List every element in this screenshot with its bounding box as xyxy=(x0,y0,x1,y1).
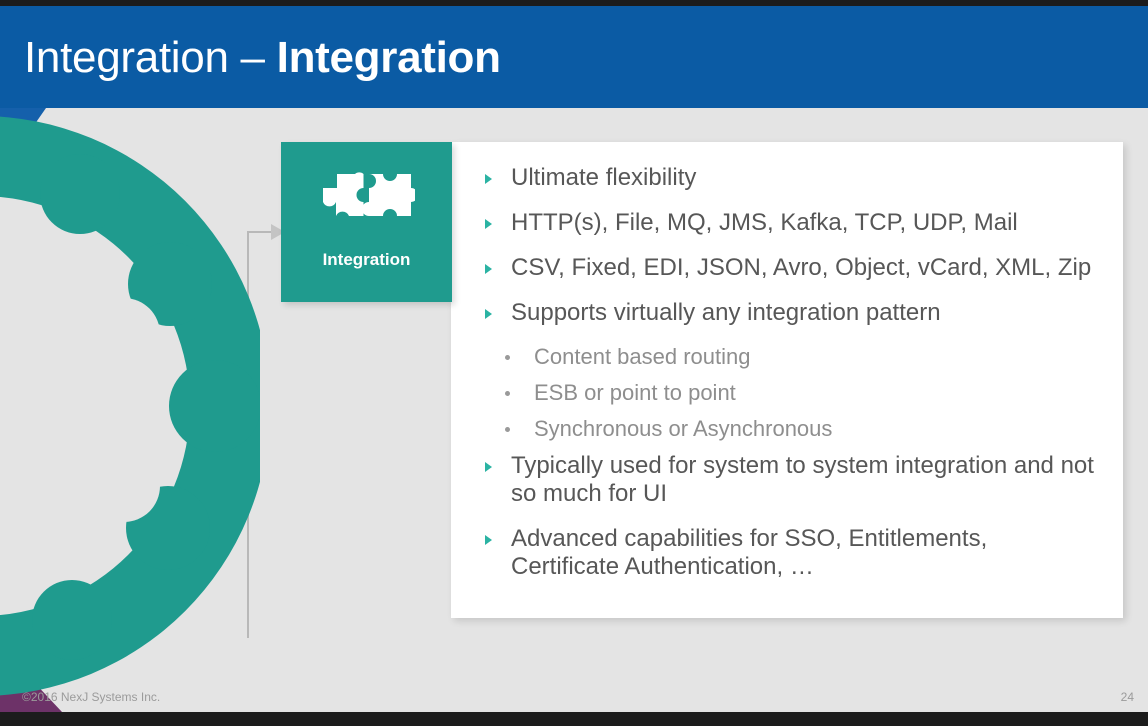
sub-bullet-text: Synchronous or Asynchronous xyxy=(534,416,832,442)
wheel-ring-shape xyxy=(0,96,260,712)
sub-list-item: Synchronous or Asynchronous xyxy=(477,416,1107,442)
bullet-triangle-icon xyxy=(477,209,511,229)
sub-bullet-list: Content based routing ESB or point to po… xyxy=(477,344,1107,442)
list-item: HTTP(s), File, MQ, JMS, Kafka, TCP, UDP,… xyxy=(477,209,1107,237)
list-item: Advanced capabilities for SSO, Entitleme… xyxy=(477,525,1107,581)
sub-list-item: ESB or point to point xyxy=(477,380,1107,406)
list-item: Supports virtually any integration patte… xyxy=(477,299,1107,327)
content-panel: Ultimate flexibility HTTP(s), File, MQ, … xyxy=(451,142,1123,618)
bullet-dot-icon xyxy=(477,380,534,396)
bullet-text: Advanced capabilities for SSO, Entitleme… xyxy=(511,525,1101,581)
bullet-triangle-icon xyxy=(477,254,511,274)
page-number: 24 xyxy=(1121,690,1134,704)
puzzle-pieces-icon xyxy=(281,164,452,226)
bullet-triangle-icon xyxy=(477,299,511,319)
bottom-letterbox-bar xyxy=(0,712,1148,726)
bullet-text: Typically used for system to system inte… xyxy=(511,452,1101,508)
bullet-text: Ultimate flexibility xyxy=(511,164,696,192)
presentation-slide: Integration – Integration Integration xyxy=(0,0,1148,726)
bullet-triangle-icon xyxy=(477,525,511,545)
slide-header: Integration – Integration xyxy=(0,6,1148,108)
page-title-prefix: Integration – xyxy=(24,33,277,82)
page-title-emphasis: Integration xyxy=(277,33,501,82)
integration-wheel-graphic: Integration xyxy=(0,96,260,712)
bullet-triangle-icon xyxy=(477,452,511,472)
bullet-dot-icon xyxy=(477,344,534,360)
footer-copyright: ©2016 NexJ Systems Inc. xyxy=(22,690,160,704)
slide-canvas: Integration – Integration Integration xyxy=(0,6,1148,712)
list-item: CSV, Fixed, EDI, JSON, Avro, Object, vCa… xyxy=(477,254,1107,282)
bullet-text: HTTP(s), File, MQ, JMS, Kafka, TCP, UDP,… xyxy=(511,209,1018,237)
sub-bullet-text: ESB or point to point xyxy=(534,380,736,406)
sub-bullet-text: Content based routing xyxy=(534,344,751,370)
bullet-text: CSV, Fixed, EDI, JSON, Avro, Object, vCa… xyxy=(511,254,1091,282)
integration-node-card[interactable]: Integration xyxy=(281,142,452,302)
page-title: Integration – Integration xyxy=(24,30,501,86)
sub-list-item: Content based routing xyxy=(477,344,1107,370)
list-item: Typically used for system to system inte… xyxy=(477,452,1107,508)
list-item: Ultimate flexibility xyxy=(477,164,1107,192)
node-card-label: Integration xyxy=(281,250,452,270)
top-letterbox-bar xyxy=(0,0,1148,6)
bullet-text: Supports virtually any integration patte… xyxy=(511,299,941,327)
puzzle-icon-shape xyxy=(319,164,415,226)
bullet-dot-icon xyxy=(477,416,534,432)
bullet-triangle-icon xyxy=(477,164,511,184)
bullet-list: Ultimate flexibility HTTP(s), File, MQ, … xyxy=(477,164,1107,598)
